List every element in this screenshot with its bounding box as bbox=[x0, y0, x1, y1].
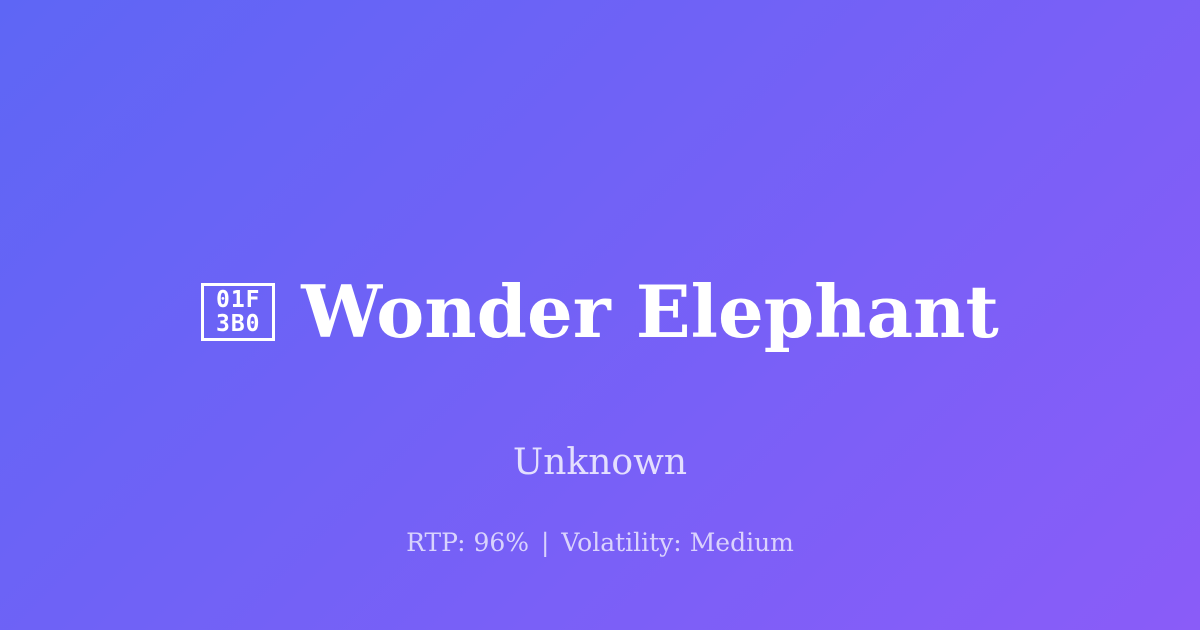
slot-machine-icon: 01F 3B0 bbox=[201, 283, 275, 341]
slot-machine-icon-codepoint-low: 3B0 bbox=[216, 312, 261, 336]
stats-separator: | bbox=[537, 528, 553, 557]
slot-machine-icon-codepoint-high: 01F bbox=[216, 288, 261, 312]
title-row: 01F 3B0 Wonder Elephant bbox=[201, 228, 999, 396]
hero-block: 01F 3B0 Wonder Elephant Unknown bbox=[0, 228, 1200, 483]
rtp-label: RTP: bbox=[406, 528, 465, 557]
page-title: Wonder Elephant bbox=[301, 276, 999, 348]
provider-subtitle: Unknown bbox=[513, 442, 687, 483]
volatility-value: Medium bbox=[690, 528, 794, 557]
rtp-value: 96% bbox=[473, 528, 529, 557]
game-stats-line: RTP: 96% | Volatility: Medium bbox=[0, 528, 1200, 557]
game-preview-card: 01F 3B0 Wonder Elephant Unknown RTP: 96%… bbox=[0, 0, 1200, 630]
volatility-label: Volatility: bbox=[561, 528, 681, 557]
